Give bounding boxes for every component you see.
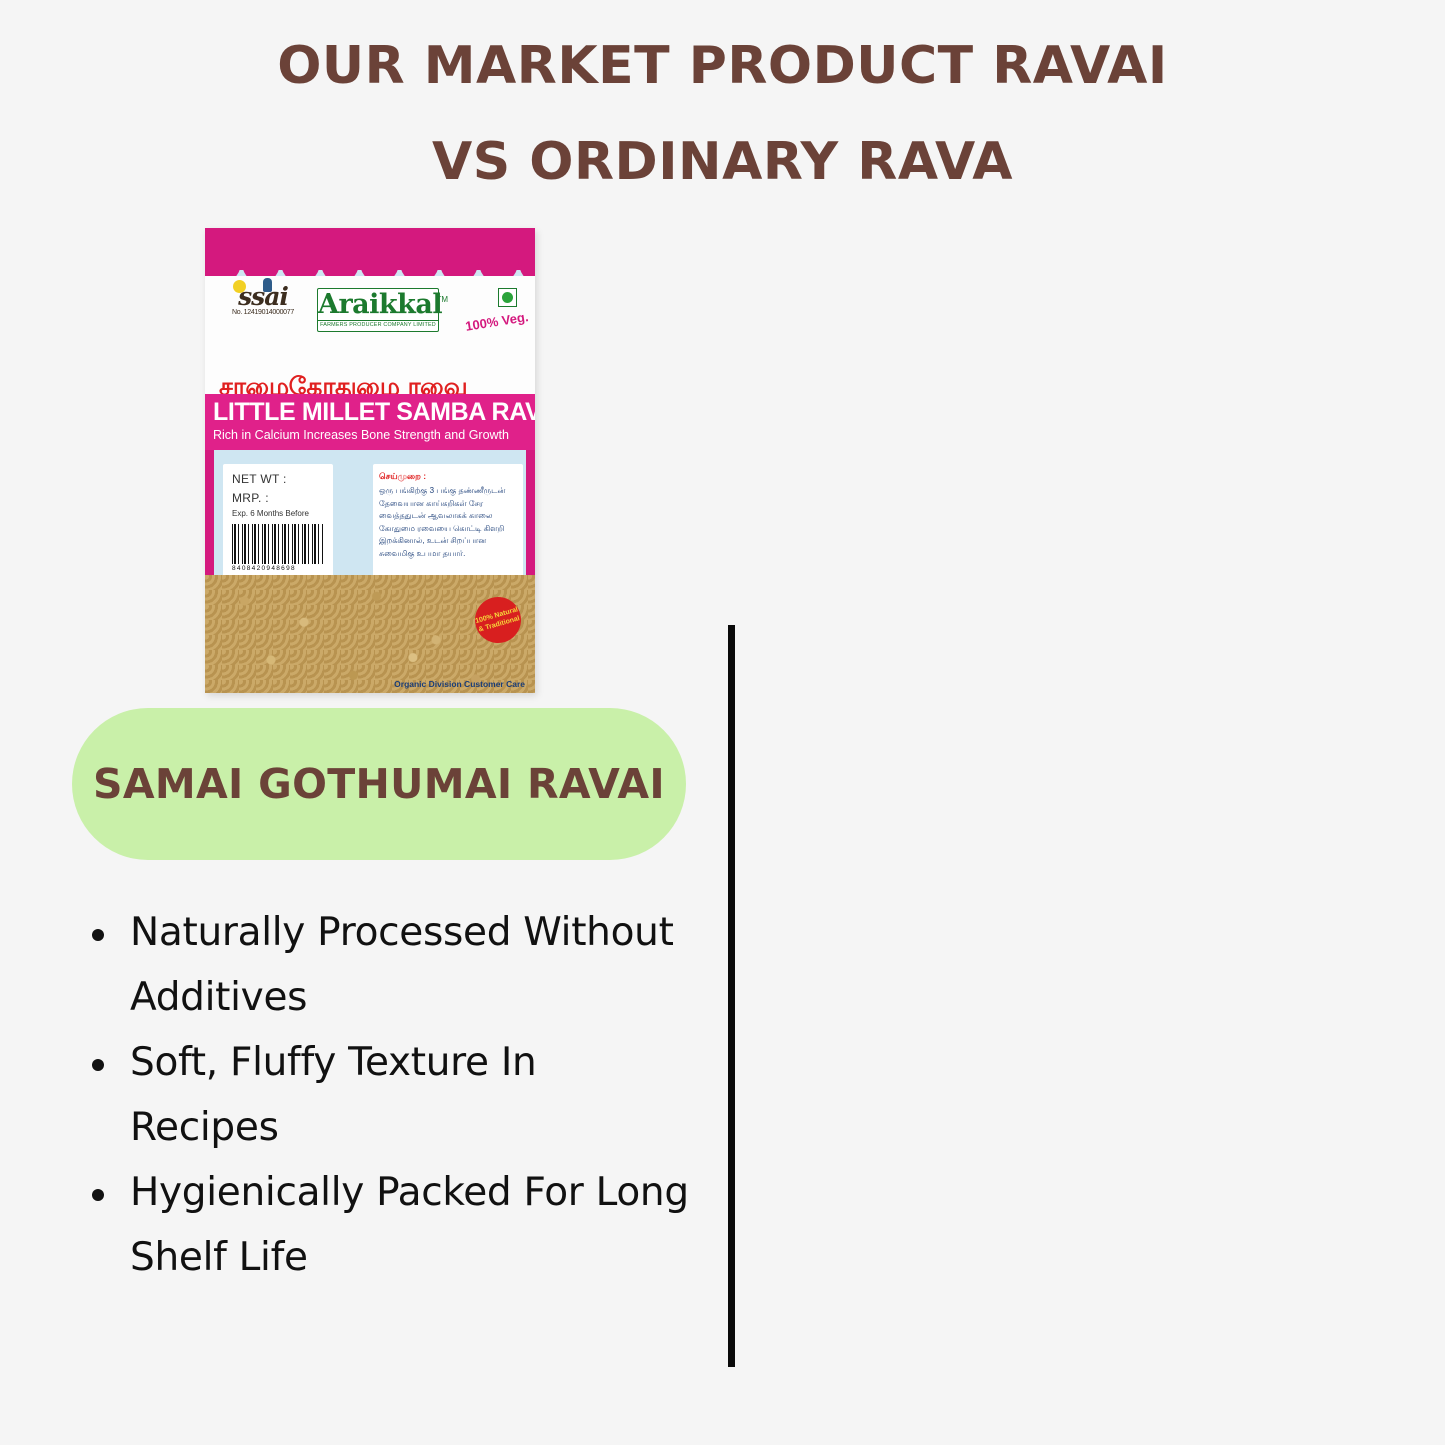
pouch-header-panel: ssai No. 12419014000077 Araikkal FARMERS… xyxy=(205,276,535,394)
english-product-name: LITTLE MILLET SAMBA RAVA xyxy=(213,398,535,427)
samai-gothumai-ravai-product-image: ssai No. 12419014000077 Araikkal FARMERS… xyxy=(205,228,535,693)
samai-gothumai-ravai-label-text: SAMAI GOTHUMAI RAVAI xyxy=(93,758,665,810)
recipe-box: செய்முறை : ஒரு பங்கிற்கு 3 பங்கு தண்ணீரு… xyxy=(373,464,523,584)
barcode-icon xyxy=(232,524,324,564)
left-column: ssai No. 12419014000077 Araikkal FARMERS… xyxy=(0,0,722,1445)
barcode-number: 8408420948698 xyxy=(232,565,296,572)
sun-icon xyxy=(233,280,246,293)
net-weight-box: NET WT : MRP. : Exp. 6 Months Before 840… xyxy=(223,464,333,579)
trademark-symbol: TM xyxy=(436,295,448,304)
recipe-heading: செய்முறை : xyxy=(379,471,517,483)
brand-logo-box: Araikkal FARMERS PRODUCER COMPANY LIMITE… xyxy=(317,288,439,332)
pillar-icon xyxy=(263,278,272,292)
brand-subtitle: FARMERS PRODUCER COMPANY LIMITED xyxy=(318,320,438,328)
list-item: Hygienically Packed For Long Shelf Life xyxy=(78,1160,690,1290)
list-item: Soft, Fluffy Texture In Recipes xyxy=(78,1030,690,1160)
araikkal-pouch: ssai No. 12419014000077 Araikkal FARMERS… xyxy=(205,228,535,693)
english-tagline: Rich in Calcium Increases Bone Strength … xyxy=(213,428,509,442)
seal-text: 100% Natural & Traditional xyxy=(473,605,522,635)
pouch-pink-band: LITTLE MILLET SAMBA RAVA Rich in Calcium… xyxy=(205,394,535,450)
fssai-logo: ssai No. 12419014000077 xyxy=(217,286,309,316)
natural-traditional-seal-icon: 100% Natural & Traditional xyxy=(470,592,527,649)
veg-mark-icon xyxy=(498,288,517,307)
mrp-label: MRP. : xyxy=(232,491,333,505)
brand-name: Araikkal xyxy=(318,291,438,319)
list-item: Naturally Processed Without Additives xyxy=(78,900,690,1030)
expiry-label: Exp. 6 Months Before xyxy=(232,509,333,518)
net-weight-label: NET WT : xyxy=(232,472,333,486)
left-benefits-list: Naturally Processed Without Additives So… xyxy=(78,900,690,1290)
veg-percentage-text: 100% Veg. xyxy=(465,309,530,334)
fssai-license-number: No. 12419014000077 xyxy=(217,309,309,316)
customer-care-text: Organic Division Customer Care xyxy=(394,679,525,689)
fssai-ornament xyxy=(227,282,297,298)
grain-window: 100% Natural & Traditional Organic Divis… xyxy=(205,575,535,693)
samai-gothumai-ravai-label-pill: SAMAI GOTHUMAI RAVAI xyxy=(72,708,686,860)
recipe-body: ஒரு பங்கிற்கு 3 பங்கு தண்ணீருடன் தேவையான… xyxy=(379,485,517,560)
right-column: ORDINARY RAVA Sometimes Chemically Treat… xyxy=(723,0,1445,1445)
